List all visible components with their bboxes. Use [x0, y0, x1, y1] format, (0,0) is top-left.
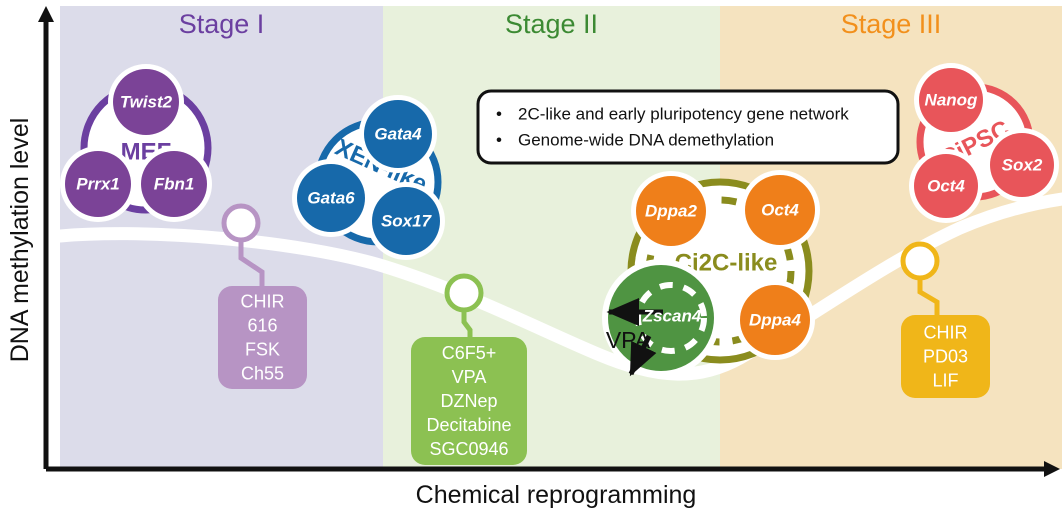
figure-root: CHIR616FSKCh55C6F5+VPADZNepDecitabineSGC… — [0, 0, 1062, 515]
chem-line: LIF — [932, 371, 958, 391]
reprogramming-diagram: CHIR616FSKCh55C6F5+VPADZNepDecitabineSGC… — [0, 0, 1062, 515]
chem-line: DZNep — [440, 391, 497, 411]
chem-line: CHIR — [241, 292, 285, 312]
chem-line: Ch55 — [241, 364, 284, 384]
chem-line: FSK — [245, 340, 280, 360]
stage-title-2: Stage II — [505, 9, 598, 39]
gene-node-label: Twist2 — [120, 93, 173, 112]
callout-body — [478, 91, 898, 163]
gene-node-label: Oct4 — [761, 201, 799, 220]
zscan4-gene-label: Zscan4 — [642, 307, 702, 326]
stage-title-1: Stage I — [179, 9, 265, 39]
callout-bullet-text: 2C-like and early pluripotency gene netw… — [518, 105, 849, 124]
chem-line: 616 — [247, 316, 277, 336]
connector-knob[interactable] — [224, 206, 258, 240]
chem-line: CHIR — [924, 323, 968, 343]
chem-line: C6F5+ — [442, 343, 497, 363]
gene-node-label: Oct4 — [927, 177, 965, 196]
gene-node-label: Prrx1 — [76, 175, 119, 194]
gene-node-label: Sox17 — [381, 212, 433, 231]
x-axis-label: Chemical reprogramming — [416, 481, 697, 509]
callout-bullet-marker: • — [496, 131, 502, 150]
chem-line: VPA — [452, 367, 487, 387]
gene-node-label: Gata6 — [307, 189, 355, 208]
gene-node-label: Sox2 — [1002, 156, 1043, 175]
y-axis-label: DNA methylation level — [6, 118, 34, 363]
gene-node-label: Fbn1 — [154, 175, 195, 194]
vpa-label: VPA — [606, 327, 651, 353]
stage-title-3: Stage III — [841, 9, 942, 39]
gene-node-label: Nanog — [925, 91, 979, 110]
gene-node-label: Dppa4 — [749, 311, 802, 330]
y-axis-arrowhead — [38, 6, 54, 22]
zscan4-group: Zscan4VPA — [602, 259, 720, 377]
chem-line: SGC0946 — [429, 439, 508, 459]
connector-knob[interactable] — [447, 276, 481, 310]
chem-line: PD03 — [923, 347, 968, 367]
callout-box: •2C-like and early pluripotency gene net… — [478, 91, 898, 163]
callout-bullet-text: Genome-wide DNA demethylation — [518, 131, 774, 150]
connector-knob[interactable] — [903, 244, 937, 278]
chem-line: Decitabine — [426, 415, 511, 435]
callout-bullet-marker: • — [496, 105, 502, 124]
gene-node-label: Dppa2 — [645, 202, 698, 221]
gene-node-label: Gata4 — [374, 125, 422, 144]
